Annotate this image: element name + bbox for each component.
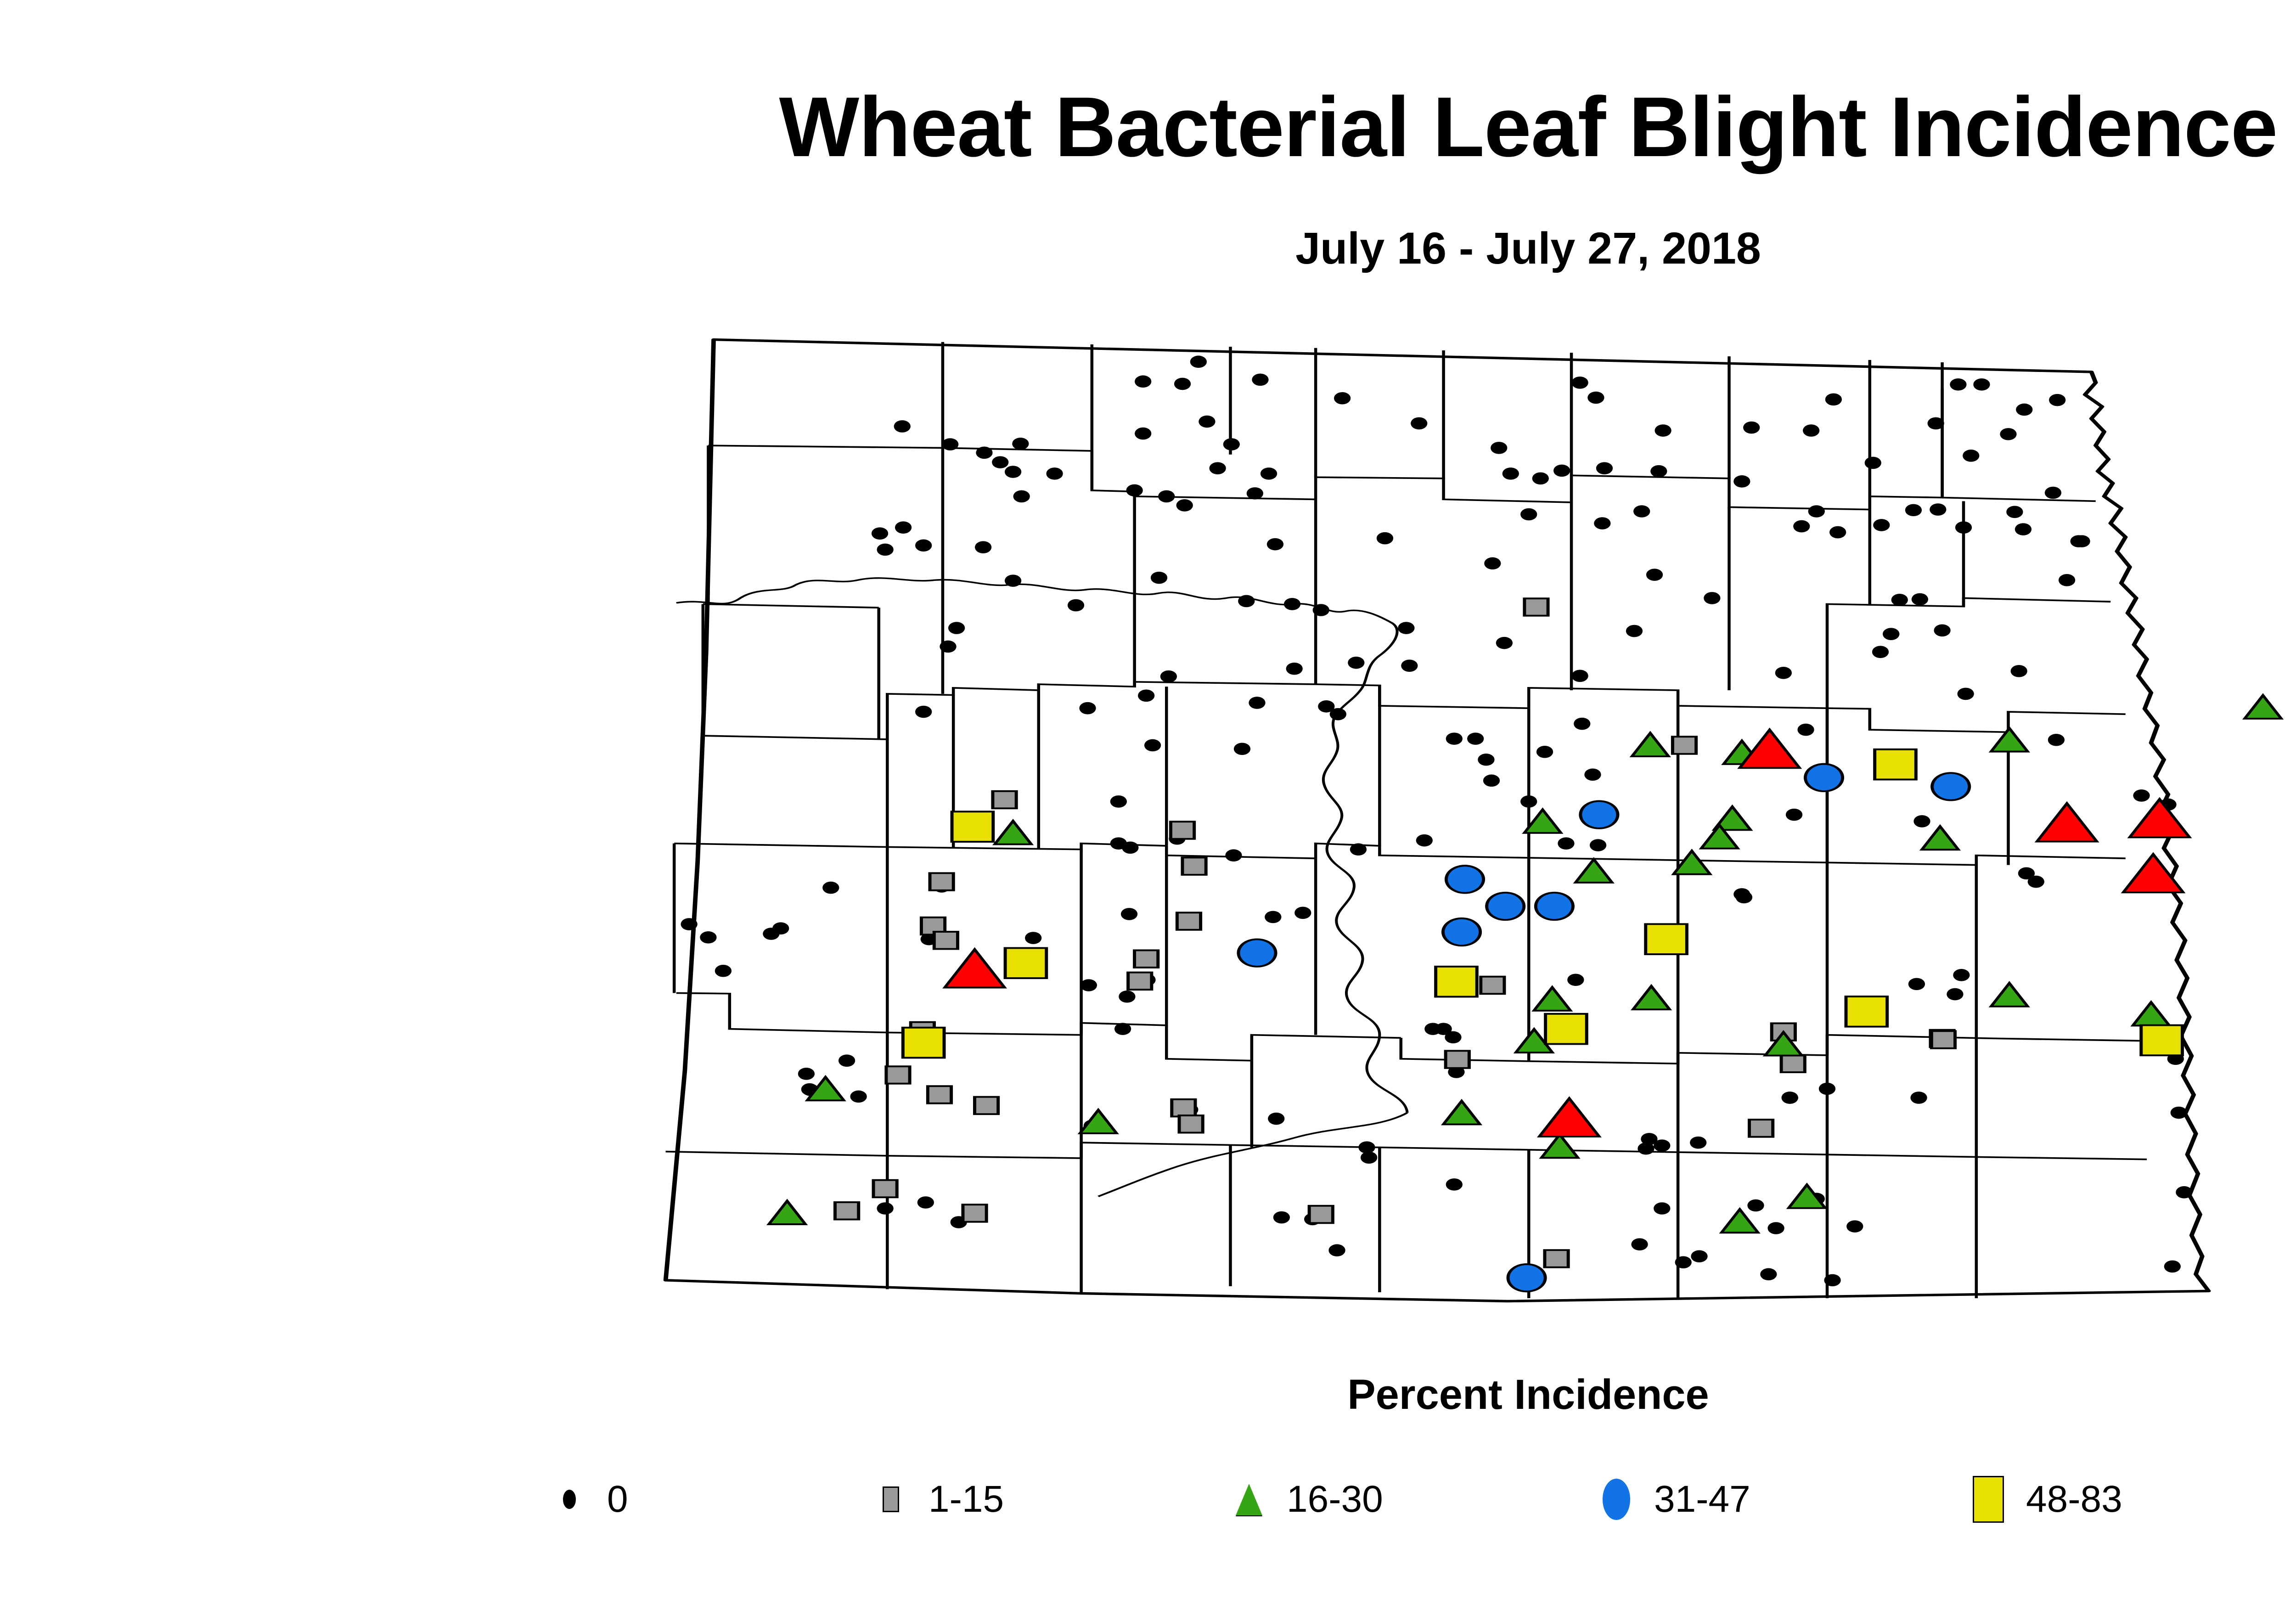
- map-marker: [1273, 1211, 1290, 1224]
- map-marker: [1416, 834, 1433, 847]
- map-marker: [915, 539, 932, 552]
- map-marker: [1144, 739, 1161, 752]
- map-marker: [1013, 490, 1030, 503]
- map-marker: [1846, 1220, 1863, 1233]
- map-marker: [1675, 1256, 1692, 1268]
- map-marker: [2018, 867, 2035, 880]
- map-marker: [1267, 538, 1283, 551]
- map-marker: [934, 932, 957, 949]
- map-marker: [1176, 499, 1193, 512]
- map-marker: [872, 527, 888, 540]
- map-marker: [1249, 697, 1265, 709]
- map-marker: [1973, 378, 1990, 391]
- map-marker: [2000, 428, 2016, 440]
- map-marker: [1567, 974, 1584, 986]
- map-marker: [1350, 843, 1367, 856]
- map-marker: [1749, 1120, 1773, 1137]
- map-marker: [1265, 911, 1281, 923]
- map-marker: [1808, 505, 1825, 518]
- map-marker: [1536, 746, 1553, 758]
- map-marker: [822, 882, 839, 894]
- map-svg: [634, 317, 2296, 1304]
- map-marker: [976, 446, 992, 459]
- map-marker: [2141, 1025, 2183, 1056]
- map-marker: [1947, 988, 1963, 1001]
- legend-item-label: 31-47: [1654, 1478, 1750, 1521]
- map-marker: [1484, 557, 1501, 570]
- map-marker: [1179, 1115, 1203, 1133]
- map-marker: [1910, 1092, 1927, 1104]
- map-marker: [700, 931, 716, 944]
- map-marker: [1558, 837, 1574, 850]
- map-marker: [1872, 646, 1889, 658]
- map-marker: [1401, 659, 1418, 672]
- map-marker: [1934, 624, 1950, 636]
- map-marker: [1883, 628, 1899, 640]
- map-marker: [1483, 775, 1500, 787]
- map-marker: [1786, 809, 1802, 821]
- map-marker: [1005, 948, 1047, 978]
- map-marker: [850, 1091, 867, 1103]
- map-marker: [1781, 1055, 1805, 1072]
- map-marker: [1411, 417, 1427, 430]
- map-marker: [1503, 467, 1519, 480]
- map-marker: [1930, 503, 1946, 516]
- map-marker: [1767, 1222, 1784, 1234]
- map-marker: [1171, 822, 1194, 839]
- map-marker: [1135, 428, 1151, 440]
- map-marker: [2048, 734, 2065, 746]
- map-marker: [1824, 1274, 1840, 1287]
- map-marker: [1068, 599, 1084, 612]
- map-marker: [1128, 973, 1152, 990]
- map-marker: [1012, 438, 1029, 450]
- legend-symbol-circle-icon: [542, 1472, 597, 1527]
- map-marker: [877, 1202, 893, 1215]
- map-marker: [2171, 1107, 2187, 1119]
- map-marker: [1177, 912, 1200, 930]
- map-marker: [1005, 574, 1021, 587]
- map-marker: [1284, 598, 1300, 610]
- map-marker: [915, 706, 932, 718]
- map-marker: [963, 1205, 986, 1222]
- map-marker: [1294, 907, 1311, 919]
- map-marker: [1182, 857, 1206, 875]
- map-marker: [2164, 1261, 2181, 1273]
- map-marker: [942, 438, 958, 450]
- map-marker: [1574, 718, 1590, 730]
- map-marker: [1025, 932, 1041, 944]
- map-marker: [1594, 517, 1610, 529]
- map-marker: [1587, 392, 1604, 404]
- map-marker: [2006, 506, 2023, 518]
- map-marker: [1819, 1083, 1835, 1095]
- map-marker: [1435, 1023, 1452, 1035]
- map-marker: [1446, 732, 1463, 745]
- map-marker: [1733, 888, 1750, 901]
- map-marker: [1631, 1238, 1648, 1250]
- map-marker: [1126, 484, 1142, 497]
- map-marker: [1080, 979, 1097, 991]
- map-marker: [1520, 795, 1537, 808]
- map-marker: [1135, 375, 1151, 388]
- map-marker: [895, 521, 912, 534]
- map-marker: [1491, 442, 1507, 454]
- map-marker: [1487, 893, 1524, 920]
- map-marker: [1581, 801, 1618, 828]
- map-marker: [894, 420, 911, 433]
- map-marker: [798, 1068, 815, 1080]
- map-marker: [2015, 523, 2032, 535]
- map-marker: [1223, 438, 1240, 450]
- map-marker: [1172, 1099, 1195, 1117]
- map-marker: [1590, 839, 1606, 851]
- map-marker: [1110, 837, 1127, 850]
- map-marker: [1646, 569, 1663, 581]
- map-marker: [1546, 1014, 1587, 1044]
- map-marker: [1793, 520, 1810, 533]
- legend-item-label: 16-30: [1287, 1478, 1383, 1521]
- map-marker: [2176, 1186, 2192, 1199]
- map-marker: [1797, 724, 1814, 736]
- map-marker: [1481, 977, 1504, 994]
- map-marker: [903, 1028, 944, 1058]
- legend-item-0: 0: [542, 1456, 628, 1543]
- map-marker: [835, 1202, 858, 1220]
- map-marker: [1747, 1199, 1764, 1212]
- map-marker: [1571, 377, 1588, 389]
- map-marker: [1138, 690, 1154, 702]
- map-marker: [974, 1097, 998, 1115]
- legend-symbol-square-icon: [1961, 1472, 2016, 1527]
- map-marker: [1913, 815, 1930, 828]
- map-marker: [1334, 392, 1351, 405]
- map-marker: [1121, 908, 1137, 920]
- map-marker: [948, 622, 965, 634]
- map-marker: [1633, 505, 1650, 518]
- map-marker: [1963, 450, 1979, 462]
- map-marker: [1330, 708, 1346, 721]
- legend-item-label: 1-15: [929, 1478, 1004, 1521]
- map-marker: [1446, 866, 1483, 893]
- map-marker: [873, 1180, 897, 1198]
- map-marker: [877, 544, 893, 556]
- map-marker: [1571, 670, 1588, 682]
- legend-item-label: 48-83: [2026, 1478, 2122, 1521]
- map-marker: [1436, 967, 1477, 997]
- map-marker: [2045, 487, 2061, 499]
- map-marker: [2133, 789, 2150, 802]
- map-marker: [1955, 521, 1972, 534]
- map-marker: [2245, 695, 2281, 719]
- map-marker: [1160, 670, 1177, 683]
- map-marker: [1931, 1031, 1955, 1048]
- map-marker: [1803, 424, 1819, 437]
- map-marker: [2070, 535, 2087, 547]
- map-marker: [1908, 978, 1925, 991]
- map-marker: [1704, 592, 1720, 604]
- map-marker: [1238, 939, 1276, 966]
- map-marker: [1268, 1113, 1284, 1125]
- map-marker: [1443, 918, 1480, 946]
- legend-item-1-15: 1-15: [863, 1456, 1004, 1543]
- map-marker: [1247, 487, 1263, 500]
- map-marker: [2016, 404, 2032, 416]
- map-marker: [1135, 950, 1158, 968]
- map-marker: [1508, 1264, 1545, 1291]
- map-marker: [1584, 769, 1601, 781]
- map-marker: [1309, 1206, 1333, 1223]
- legend-item-label: 0: [607, 1478, 628, 1521]
- map-marker: [1638, 1143, 1654, 1155]
- map-marker: [992, 456, 1008, 468]
- north-dakota-map: [634, 317, 2296, 1304]
- map-marker: [1782, 1092, 1798, 1104]
- map-marker: [930, 873, 953, 890]
- map-marker: [1467, 732, 1484, 745]
- map-marker: [1891, 594, 1908, 606]
- date-range-subtitle: July 16 - July 27, 2018: [0, 223, 2296, 274]
- map-marker: [1646, 924, 1687, 954]
- map-marker: [1912, 593, 1928, 606]
- map-marker: [1261, 467, 1277, 480]
- map-marker: [1313, 604, 1329, 616]
- map-marker: [1532, 473, 1549, 485]
- map-marker: [715, 965, 732, 977]
- map-marker: [1520, 508, 1537, 521]
- map-marker: [1252, 374, 1268, 386]
- map-marker: [1957, 688, 1974, 700]
- map-marker: [1626, 625, 1643, 637]
- map-marker: [1825, 394, 1842, 406]
- map-marker: [838, 1054, 855, 1067]
- map-marker: [1209, 462, 1226, 474]
- map-marker: [1496, 637, 1513, 649]
- map-marker: [1348, 657, 1364, 669]
- map-marker: [1743, 422, 1760, 434]
- map-marker: [1446, 1178, 1463, 1191]
- map-marker: [1654, 424, 1671, 437]
- map-marker: [1953, 969, 1970, 981]
- map-marker: [1079, 702, 1096, 715]
- map-marker: [940, 641, 956, 653]
- map-marker: [886, 1066, 910, 1084]
- map-marker: [1361, 1151, 1377, 1164]
- map-marker: [1119, 991, 1135, 1003]
- map-marker: [1525, 598, 1548, 616]
- legend-item-31-47: 31-47: [1589, 1456, 1750, 1543]
- map-marker: [928, 1086, 951, 1103]
- map-marker: [1875, 749, 1916, 780]
- map-marker: [1553, 465, 1570, 477]
- map-marker: [1932, 773, 1970, 800]
- map-marker: [1950, 378, 1966, 391]
- map-marker: [1328, 1244, 1345, 1256]
- map-marker: [1672, 737, 1696, 754]
- map-marker: [1654, 1202, 1670, 1215]
- map-marker: [1158, 490, 1175, 503]
- map-marker: [1377, 532, 1393, 545]
- map-marker: [763, 928, 779, 940]
- map-marker: [2011, 665, 2027, 677]
- map-marker: [1873, 519, 1890, 531]
- legend-symbol-circle-icon: [1589, 1472, 1644, 1527]
- legend: 01-1516-3031-4748-83> 83: [542, 1456, 2296, 1548]
- map-marker: [1478, 754, 1494, 766]
- map-marker: [1905, 504, 1922, 517]
- map-marker: [917, 1196, 934, 1209]
- map-marker: [1691, 1250, 1707, 1262]
- map-marker: [975, 541, 991, 553]
- map-marker: [1865, 457, 1881, 469]
- map-marker: [1005, 466, 1021, 478]
- map-marker: [1286, 663, 1303, 675]
- map-marker: [1199, 416, 1215, 428]
- map-marker: [681, 918, 698, 930]
- legend-symbol-triangle-icon: [1221, 1472, 1277, 1527]
- map-marker: [1046, 467, 1063, 480]
- legend-item-16-30: 16-30: [1221, 1456, 1383, 1543]
- legend-symbol-square-icon: [863, 1472, 918, 1527]
- map-marker: [2049, 394, 2065, 406]
- map-marker: [1928, 417, 1944, 430]
- page-title: Wheat Bacterial Leaf Blight Incidence: [0, 83, 2296, 172]
- map-marker: [1114, 1023, 1131, 1035]
- map-marker: [1110, 795, 1127, 808]
- legend-title: Percent Incidence: [0, 1371, 2296, 1419]
- map-marker: [1596, 462, 1613, 474]
- map-marker: [1190, 355, 1207, 368]
- map-marker: [1690, 1137, 1706, 1149]
- map-marker: [1225, 849, 1242, 861]
- map-marker: [1650, 465, 1667, 478]
- map-marker: [993, 791, 1016, 809]
- map-marker: [1234, 743, 1250, 755]
- map-marker: [1829, 526, 1846, 539]
- map-marker: [1805, 764, 1842, 791]
- map-marker: [1846, 996, 1887, 1027]
- map-marker: [2059, 574, 2075, 586]
- map-marker: [1760, 1268, 1777, 1281]
- figure-root: Wheat Bacterial Leaf Blight Incidence Ju…: [0, 0, 2296, 1610]
- map-marker: [1446, 1051, 1469, 1068]
- map-marker: [1654, 1139, 1670, 1152]
- map-marker: [1775, 667, 1792, 679]
- map-marker: [1398, 622, 1414, 634]
- legend-item-48-83: 48-83: [1961, 1456, 2122, 1543]
- map-marker: [1151, 572, 1167, 584]
- map-marker: [952, 811, 993, 842]
- map-marker: [1174, 378, 1191, 390]
- map-marker: [1545, 1250, 1568, 1267]
- map-marker: [1733, 475, 1750, 488]
- map-marker: [1536, 893, 1573, 920]
- map-marker: [1238, 595, 1255, 608]
